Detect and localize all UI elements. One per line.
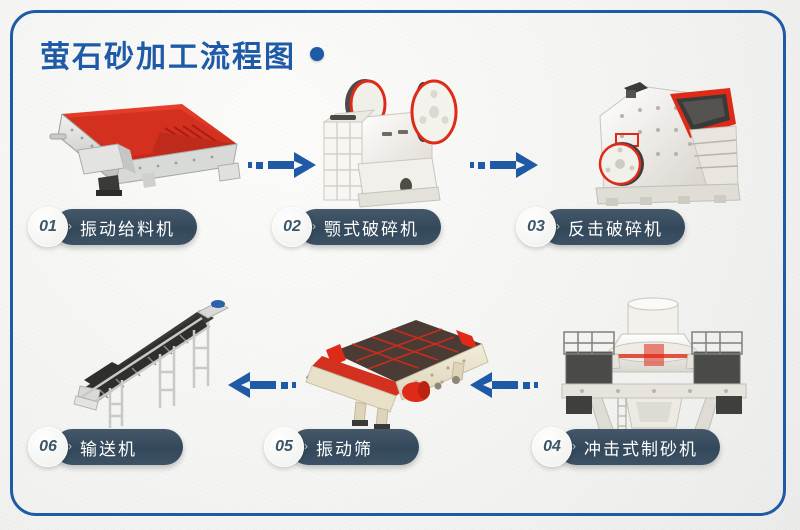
page-title-text: 萤石砂加工流程图 [40,32,296,76]
step-pill[interactable]: › 冲击式制砂机 [558,429,720,465]
step-label-text: 输送机 [80,435,137,460]
step-label-01[interactable]: 01 › 振动给料机 [28,209,197,245]
chevron-right-icon: › [312,220,316,232]
step-number-badge: 06 [28,427,68,467]
step-label-02[interactable]: 02 › 颚式破碎机 [272,209,441,245]
chevron-right-icon: › [304,440,308,452]
step-pill[interactable]: › 振动筛 [290,429,419,465]
step-label-06[interactable]: 06 › 输送机 [28,429,183,465]
step-label-03[interactable]: 03 › 反击破碎机 [516,209,685,245]
step-number-badge: 03 [516,207,556,247]
step-label-text: 反击破碎机 [568,215,663,240]
title-dot-icon [310,47,324,61]
arrow-04-to-05 [470,372,538,398]
step-pill[interactable]: › 输送机 [54,429,183,465]
machine-vibrating-feeder [32,86,264,204]
chevron-right-icon: › [572,440,576,452]
chevron-right-icon: › [68,220,72,232]
chevron-right-icon: › [68,440,72,452]
step-label-05[interactable]: 05 › 振动筛 [264,429,419,465]
machine-impact-crusher [578,68,762,208]
step-label-text: 颚式破碎机 [324,215,419,240]
machine-jaw-crusher [306,68,482,210]
machine-vibrating-screen [296,300,492,434]
step-number-badge: 01 [28,207,68,247]
machine-vsi-sand-maker [548,296,760,440]
step-pill[interactable]: › 反击破碎机 [542,209,685,245]
step-label-text: 振动给料机 [80,215,175,240]
step-number-badge: 05 [264,427,304,467]
step-number-badge: 02 [272,207,312,247]
step-number-badge: 04 [532,427,572,467]
step-label-text: 振动筛 [316,435,373,460]
step-pill[interactable]: › 振动给料机 [54,209,197,245]
machine-belt-conveyor [48,292,254,434]
arrow-01-to-02 [248,152,316,178]
arrow-05-to-06 [228,372,296,398]
chevron-right-icon: › [556,220,560,232]
step-label-text: 冲击式制砂机 [584,435,698,460]
arrow-02-to-03 [470,152,538,178]
page-title: 萤石砂加工流程图 [40,32,324,76]
flowchart-canvas: 萤石砂加工流程图 [0,0,800,530]
step-pill[interactable]: › 颚式破碎机 [298,209,441,245]
step-label-04[interactable]: 04 › 冲击式制砂机 [532,429,720,465]
